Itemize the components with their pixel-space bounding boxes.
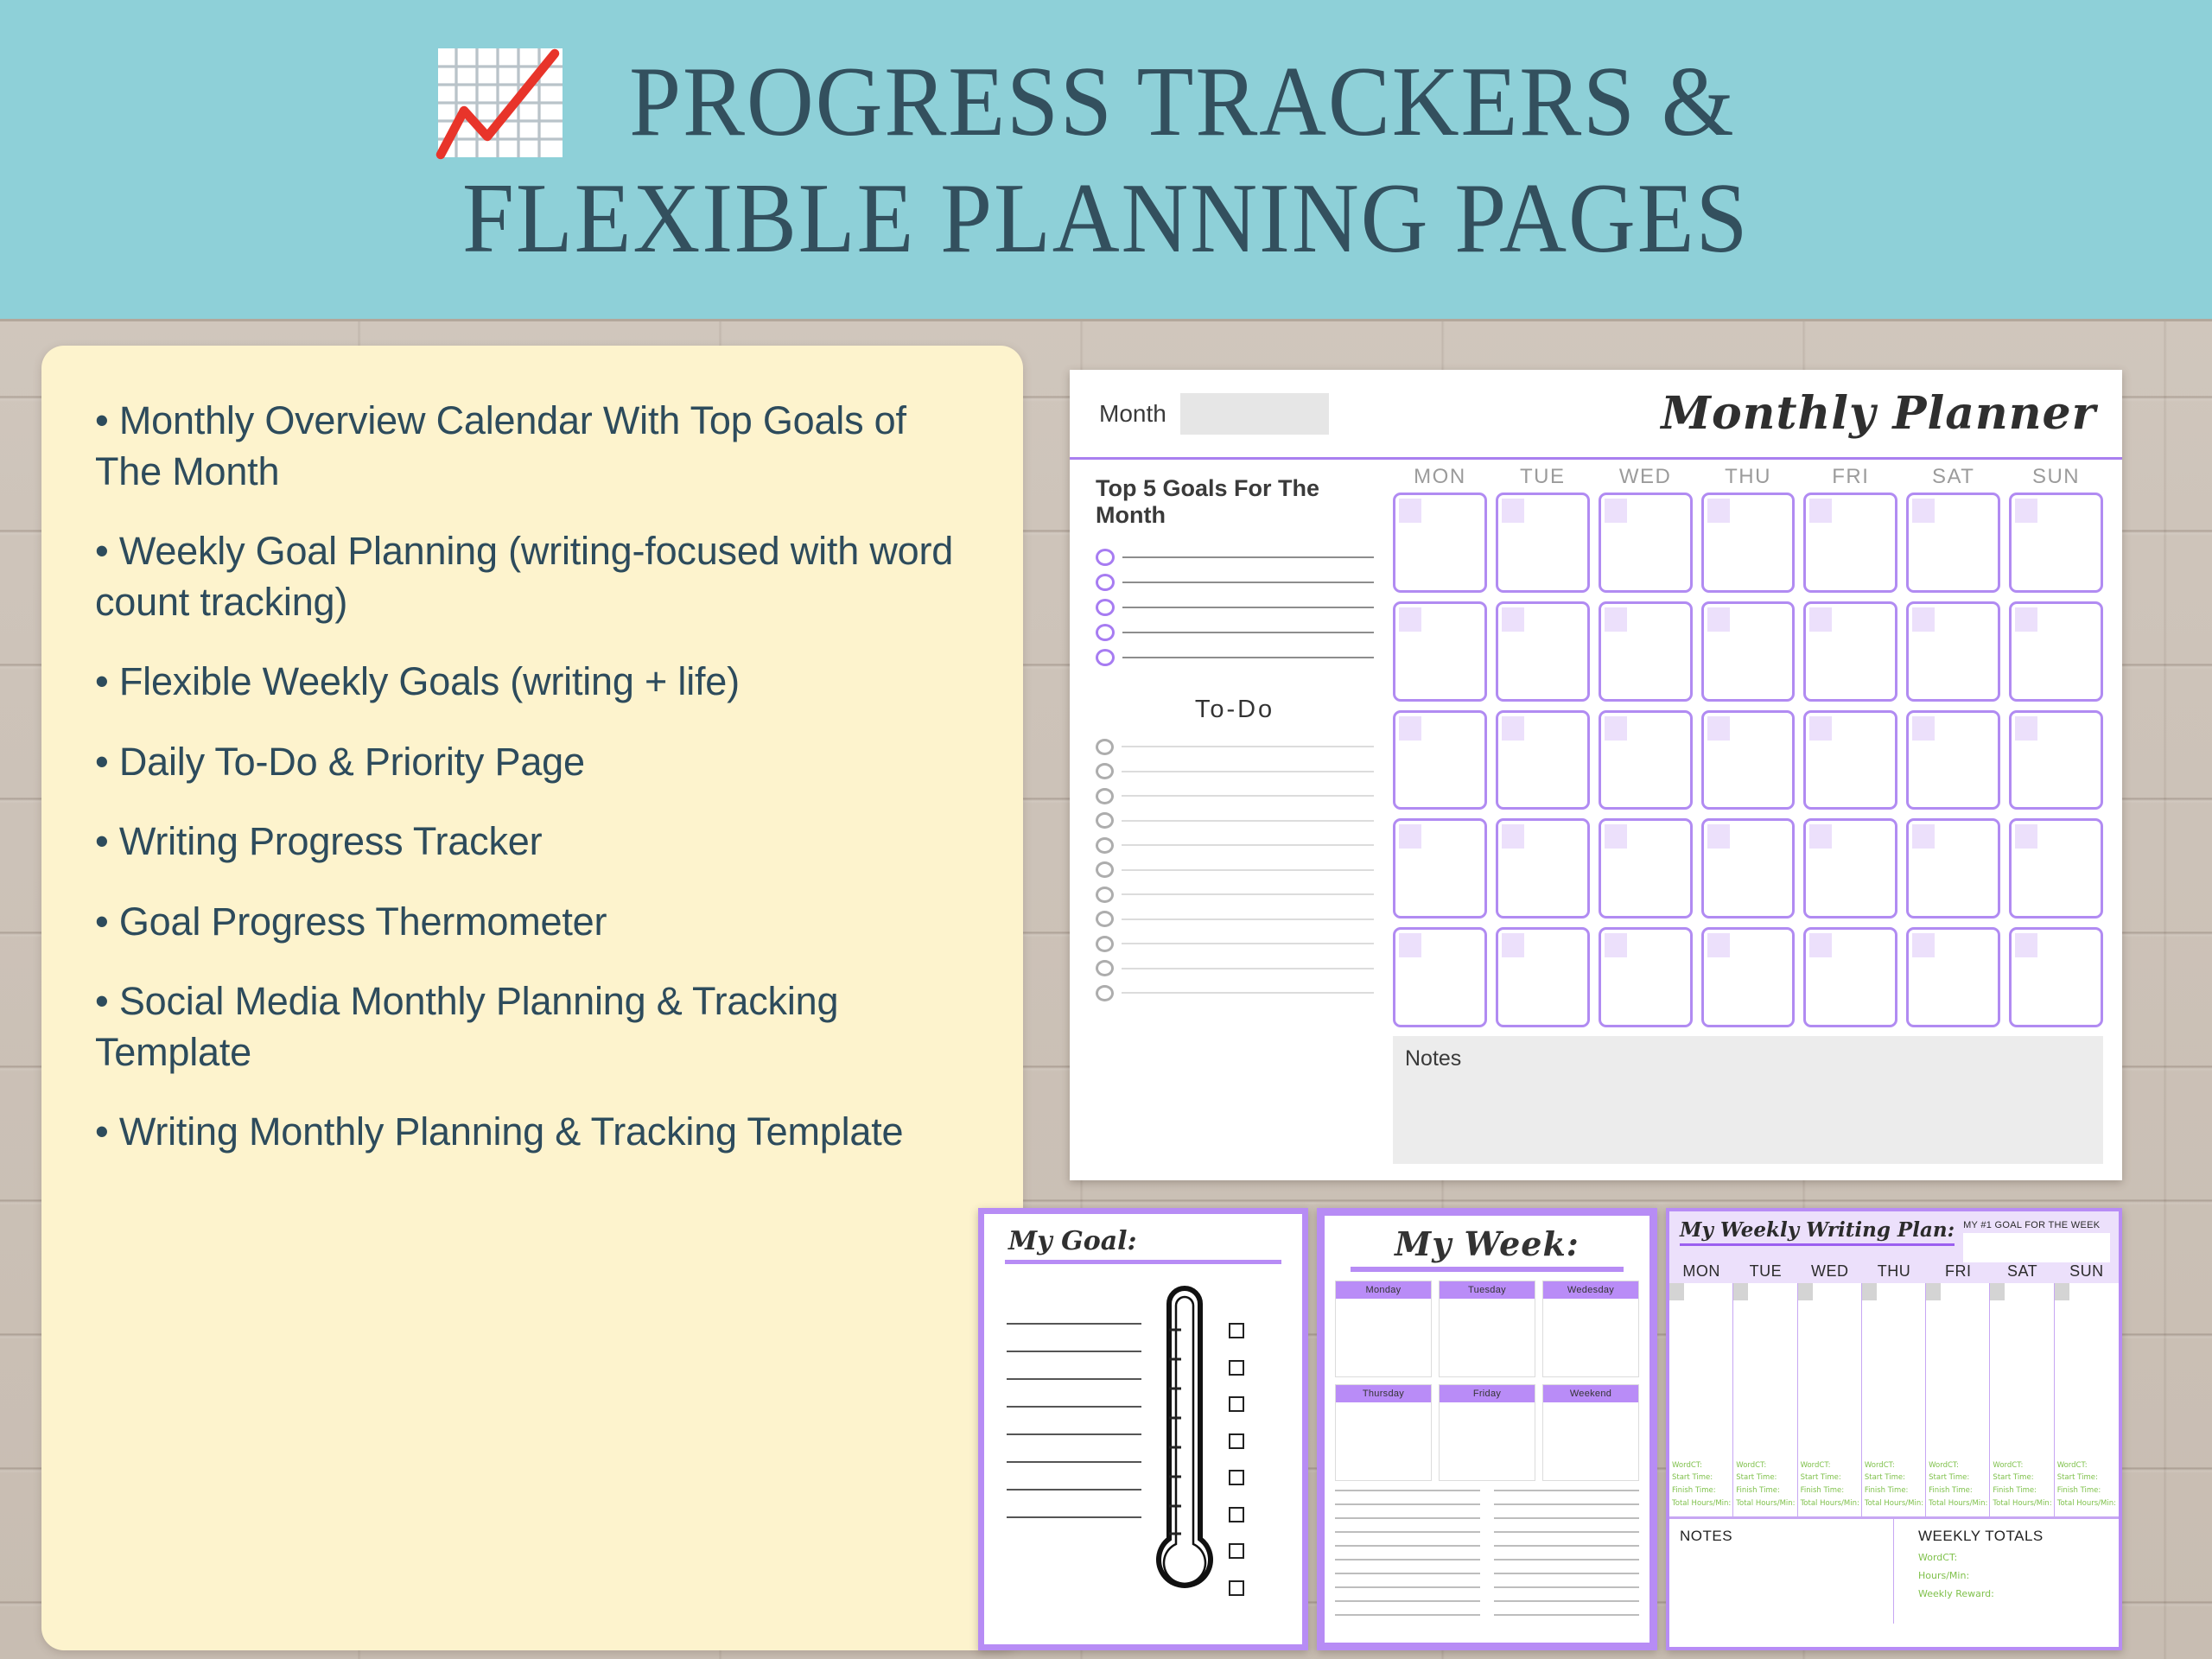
week-day-body[interactable] [1543, 1402, 1638, 1480]
writing-plan-field[interactable]: WordCT: [1672, 1459, 1731, 1472]
calendar-day-cell[interactable] [1701, 818, 1796, 918]
goal-checkbox-column [1229, 1323, 1244, 1617]
writing-plan-field[interactable]: Finish Time: [1672, 1484, 1731, 1497]
week-note-line[interactable] [1494, 1573, 1639, 1574]
calendar-day-cell[interactable] [2009, 601, 2103, 702]
week-goal-input[interactable] [1963, 1233, 2110, 1262]
my-week-preview: My Week: MondayTuesdayWedesdayThursdayFr… [1317, 1208, 1657, 1650]
goal-bullet-icon[interactable] [1096, 649, 1115, 666]
goal-checkbox[interactable] [1229, 1507, 1244, 1522]
goal-bullet-icon[interactable] [1096, 624, 1115, 641]
week-day-grid: MondayTuesdayWedesdayThursdayFridayWeeke… [1335, 1281, 1639, 1481]
calendar-day-cell[interactable] [1393, 601, 1487, 702]
calendar-day-cell[interactable] [2009, 493, 2103, 593]
writing-plan-field-group: WordCT:Start Time:Finish Time:Total Hour… [1672, 1459, 1731, 1511]
writing-plan-field[interactable]: Total Hours/Min: [1993, 1497, 2051, 1510]
calendar-day-cell[interactable] [1496, 493, 1590, 593]
weekly-totals-title: WEEKLY TOTALS [1918, 1528, 2119, 1545]
week-day-body[interactable] [1336, 1402, 1431, 1480]
calendar-day-cell[interactable] [1803, 927, 1897, 1027]
todo-row[interactable] [1096, 882, 1374, 907]
calendar-day-cell[interactable] [2009, 710, 2103, 810]
writing-plan-day-header: WED [1798, 1262, 1862, 1281]
writing-plan-field[interactable]: Total Hours/Min: [1801, 1497, 1859, 1510]
week-day-label: Wedesday [1543, 1281, 1638, 1299]
todo-bullet-icon[interactable] [1096, 985, 1114, 1001]
goal-line[interactable] [1007, 1516, 1141, 1518]
header-title-line2: FLEXIBLE PLANNING PAGES [462, 165, 1749, 273]
todo-write-line[interactable] [1122, 992, 1374, 994]
monthly-planner-header: Month Monthly Planner [1070, 370, 2122, 460]
goal-row[interactable] [1096, 544, 1374, 569]
calendar-day-header: THU [1701, 465, 1796, 489]
todo-bullet-icon[interactable] [1096, 812, 1114, 829]
todo-write-line[interactable] [1122, 771, 1374, 772]
writing-plan-day-column[interactable]: WordCT:Start Time:Finish Time:Total Hour… [1733, 1283, 1797, 1516]
todo-row[interactable] [1096, 858, 1374, 883]
week-notes-area [1335, 1490, 1639, 1628]
week-day-cell[interactable]: Monday [1335, 1281, 1432, 1377]
calendar-day-cell[interactable] [1803, 493, 1897, 593]
writing-plan-field[interactable]: Total Hours/Min: [1672, 1497, 1731, 1510]
goal-line[interactable] [1007, 1378, 1141, 1380]
week-day-label: Thursday [1336, 1385, 1431, 1402]
todo-bullet-icon[interactable] [1096, 837, 1114, 854]
week-note-line[interactable] [1335, 1517, 1480, 1519]
goal-title-rule [1005, 1260, 1281, 1264]
writing-plan-field[interactable]: Finish Time: [1993, 1484, 2051, 1497]
calendar-day-cell[interactable] [1803, 818, 1897, 918]
writing-plan-field[interactable]: WordCT: [1993, 1459, 2051, 1472]
calendar-day-cell[interactable] [1496, 601, 1590, 702]
week-note-line[interactable] [1335, 1531, 1480, 1533]
writing-plan-field[interactable]: Start Time: [1865, 1471, 1923, 1484]
calendar-day-cell[interactable] [1906, 927, 2000, 1027]
calendar-day-cell[interactable] [1906, 493, 2000, 593]
writing-plan-field[interactable]: Total Hours/Min: [2057, 1497, 2116, 1510]
writing-plan-day-column[interactable]: WordCT:Start Time:Finish Time:Total Hour… [1926, 1283, 1990, 1516]
todo-row[interactable] [1096, 760, 1374, 785]
goal-bullet-icon[interactable] [1096, 549, 1115, 566]
todo-write-line[interactable] [1122, 918, 1374, 920]
calendar-day-cell[interactable] [1393, 710, 1487, 810]
week-day-cell[interactable]: Wedesday [1542, 1281, 1639, 1377]
week-note-line[interactable] [1494, 1559, 1639, 1560]
week-day-label: Friday [1440, 1385, 1535, 1402]
monthly-planner-body: Top 5 Goals For The Month To-Do MONTUEWE… [1070, 460, 2122, 1178]
writing-plan-field-group: WordCT:Start Time:Finish Time:Total Hour… [1801, 1459, 1859, 1511]
goal-checkbox[interactable] [1229, 1396, 1244, 1412]
todo-row[interactable] [1096, 981, 1374, 1006]
weekly-totals-fields: WordCT:Hours/Min:Weekly Reward: [1918, 1552, 2119, 1599]
weekly-total-field[interactable]: Hours/Min: [1918, 1570, 2119, 1581]
goal-line[interactable] [1007, 1351, 1141, 1352]
feature-item: • Writing Progress Tracker [95, 817, 969, 868]
week-note-line[interactable] [1335, 1614, 1480, 1616]
week-note-line[interactable] [1494, 1614, 1639, 1616]
calendar-day-header: SUN [2009, 465, 2103, 489]
goal-line[interactable] [1007, 1406, 1141, 1408]
todo-write-line[interactable] [1122, 893, 1374, 895]
week-sheet-title: My Week: [1335, 1224, 1639, 1263]
todo-bullet-icon[interactable] [1096, 887, 1114, 903]
goal-checkbox[interactable] [1229, 1360, 1244, 1376]
goals-list [1096, 544, 1374, 670]
week-note-line[interactable] [1494, 1517, 1639, 1519]
writing-plan-day-header: FRI [1926, 1262, 1990, 1281]
week-goal-label: MY #1 GOAL FOR THE WEEK [1963, 1220, 2110, 1230]
goals-title: Top 5 Goals For The Month [1096, 475, 1374, 529]
thermometer-icon [1145, 1280, 1224, 1625]
weekly-writing-plan-preview: My Weekly Writing Plan: MY #1 GOAL FOR T… [1666, 1208, 2122, 1650]
feature-item: • Goal Progress Thermometer [95, 897, 969, 948]
todo-row[interactable] [1096, 833, 1374, 858]
week-goal-group: MY #1 GOAL FOR THE WEEK [1963, 1218, 2110, 1262]
writing-plan-day-column[interactable]: WordCT:Start Time:Finish Time:Total Hour… [1990, 1283, 2054, 1516]
goals-and-todo-column: Top 5 Goals For The Month To-Do [1070, 460, 1389, 1178]
goal-checkbox[interactable] [1229, 1543, 1244, 1559]
writing-plan-field[interactable]: WordCT: [1865, 1459, 1923, 1472]
month-field-group: Month [1099, 393, 1329, 435]
todo-bullet-icon[interactable] [1096, 739, 1114, 755]
todo-row[interactable] [1096, 784, 1374, 809]
goal-line[interactable] [1007, 1433, 1141, 1435]
week-day-cell[interactable]: Weekend [1542, 1384, 1639, 1481]
week-title-rule [1351, 1267, 1624, 1272]
weekly-total-field[interactable]: Weekly Reward: [1918, 1588, 2119, 1599]
calendar-day-cell[interactable] [2009, 927, 2103, 1027]
writing-plan-day-column[interactable]: WordCT:Start Time:Finish Time:Total Hour… [1798, 1283, 1862, 1516]
todo-bullet-icon[interactable] [1096, 861, 1114, 878]
todo-write-line[interactable] [1122, 746, 1374, 747]
writing-plan-day-header: THU [1862, 1262, 1926, 1281]
week-note-line[interactable] [1335, 1503, 1480, 1505]
calendar-day-cell[interactable] [1599, 601, 1693, 702]
todo-bullet-icon[interactable] [1096, 911, 1114, 927]
calendar-day-header: FRI [1803, 465, 1897, 489]
week-day-body[interactable] [1440, 1402, 1535, 1480]
todo-write-line[interactable] [1122, 869, 1374, 871]
goal-write-lines[interactable] [1007, 1323, 1141, 1544]
calendar-day-cell[interactable] [1906, 710, 2000, 810]
calendar-day-cell[interactable] [1599, 818, 1693, 918]
week-day-body[interactable] [1336, 1299, 1431, 1376]
week-note-line[interactable] [1494, 1490, 1639, 1491]
writing-plan-field-group: WordCT:Start Time:Finish Time:Total Hour… [1993, 1459, 2051, 1511]
calendar-day-cell[interactable] [1393, 927, 1487, 1027]
goal-row[interactable] [1096, 569, 1374, 594]
calendar-day-cell[interactable] [1701, 710, 1796, 810]
calendar-day-cell[interactable] [1496, 710, 1590, 810]
writing-plan-day-header: SUN [2055, 1262, 2119, 1281]
writing-plan-day-headers: MONTUEWEDTHUFRISATSUN [1669, 1262, 2119, 1283]
writing-plan-field[interactable]: Start Time: [1736, 1471, 1795, 1484]
writing-plan-field-group: WordCT:Start Time:Finish Time:Total Hour… [1865, 1459, 1923, 1511]
calendar-grid [1393, 493, 2103, 1027]
goal-write-line[interactable] [1122, 607, 1374, 608]
writing-plan-title-rule [1680, 1243, 1955, 1246]
writing-plan-day-column[interactable]: WordCT:Start Time:Finish Time:Total Hour… [1669, 1283, 1733, 1516]
todo-bullet-icon[interactable] [1096, 960, 1114, 976]
writing-plan-notes[interactable]: NOTES [1669, 1519, 1894, 1624]
calendar-day-cell[interactable] [1701, 927, 1796, 1027]
week-day-label: Weekend [1543, 1385, 1638, 1402]
notes-label: Notes [1405, 1046, 2103, 1071]
writing-plan-field[interactable]: Total Hours/Min: [1865, 1497, 1923, 1510]
calendar-day-cell[interactable] [1496, 927, 1590, 1027]
writing-plan-field[interactable]: Start Time: [2057, 1471, 2116, 1484]
week-note-line[interactable] [1494, 1503, 1639, 1505]
writing-plan-day-header: MON [1669, 1262, 1733, 1281]
calendar-day-header: MON [1393, 465, 1487, 489]
writing-plan-field[interactable]: WordCT: [1736, 1459, 1795, 1472]
writing-plan-title-wrap: My Weekly Writing Plan: [1680, 1218, 1955, 1246]
calendar-day-header: TUE [1496, 465, 1590, 489]
writing-plan-day-column[interactable]: WordCT:Start Time:Finish Time:Total Hour… [2055, 1283, 2119, 1516]
feature-item: • Daily To-Do & Priority Page [95, 737, 969, 788]
writing-plan-field[interactable]: Start Time: [1672, 1471, 1731, 1484]
writing-plan-field[interactable]: WordCT: [1801, 1459, 1859, 1472]
week-notes-column-right[interactable] [1494, 1490, 1639, 1628]
week-day-label: Tuesday [1440, 1281, 1535, 1299]
week-day-body[interactable] [1543, 1299, 1638, 1376]
writing-plan-notes-title: NOTES [1680, 1528, 1893, 1545]
goal-checkbox[interactable] [1229, 1323, 1244, 1338]
week-day-cell[interactable]: Friday [1439, 1384, 1535, 1481]
header-banner: PROGRESS TRACKERS & FLEXIBLE PLANNING PA… [0, 0, 2212, 321]
feature-item: • Flexible Weekly Goals (writing + life) [95, 657, 969, 708]
goal-sheet-body [1000, 1269, 1287, 1641]
week-notes-column-left[interactable] [1335, 1490, 1480, 1628]
goal-bullet-icon[interactable] [1096, 599, 1115, 616]
writing-plan-day-header: TUE [1733, 1262, 1797, 1281]
writing-plan-day-column[interactable]: WordCT:Start Time:Finish Time:Total Hour… [1862, 1283, 1926, 1516]
todo-bullet-icon[interactable] [1096, 763, 1114, 779]
week-day-body[interactable] [1440, 1299, 1535, 1376]
todo-write-line[interactable] [1122, 844, 1374, 846]
feature-item: • Writing Monthly Planning & Tracking Te… [95, 1107, 969, 1158]
writing-plan-header: My Weekly Writing Plan: MY #1 GOAL FOR T… [1669, 1211, 2119, 1262]
todo-row[interactable] [1096, 907, 1374, 932]
goal-row[interactable] [1096, 594, 1374, 620]
week-note-line[interactable] [1494, 1586, 1639, 1588]
writing-plan-field[interactable]: WordCT: [2057, 1459, 2116, 1472]
goal-row[interactable] [1096, 645, 1374, 670]
todo-write-line[interactable] [1122, 943, 1374, 944]
todo-list [1096, 734, 1374, 1006]
week-note-line[interactable] [1335, 1559, 1480, 1560]
calendar-day-cell[interactable] [1803, 601, 1897, 702]
week-day-label: Monday [1336, 1281, 1431, 1299]
calendar-day-cell[interactable] [1803, 710, 1897, 810]
calendar-day-cell[interactable] [1496, 818, 1590, 918]
writing-plan-field-group: WordCT:Start Time:Finish Time:Total Hour… [2057, 1459, 2116, 1511]
calendar-day-cell[interactable] [1906, 818, 2000, 918]
week-note-line[interactable] [1335, 1600, 1480, 1602]
writing-plan-field[interactable]: WordCT: [1929, 1459, 1987, 1472]
monthly-planner-title: Monthly Planner [1661, 387, 2096, 440]
week-note-line[interactable] [1335, 1586, 1480, 1588]
calendar-day-header: SAT [1906, 465, 2000, 489]
todo-write-line[interactable] [1122, 795, 1374, 797]
goal-sheet-title: My Goal: [1008, 1226, 1287, 1256]
writing-plan-day-columns: WordCT:Start Time:Finish Time:Total Hour… [1669, 1283, 2119, 1516]
week-day-cell[interactable]: Tuesday [1439, 1281, 1535, 1377]
todo-bullet-icon[interactable] [1096, 936, 1114, 952]
writing-plan-field[interactable]: Start Time: [1801, 1471, 1859, 1484]
todo-bullet-icon[interactable] [1096, 788, 1114, 804]
calendar-column: MONTUEWEDTHUFRISATSUN Notes [1389, 460, 2122, 1178]
month-label: Month [1099, 400, 1166, 428]
week-day-cell[interactable]: Thursday [1335, 1384, 1432, 1481]
header-title-line1: PROGRESS TRACKERS & [629, 48, 1735, 156]
goal-line[interactable] [1007, 1323, 1141, 1325]
goal-line[interactable] [1007, 1489, 1141, 1491]
features-panel: • Monthly Overview Calendar With Top Goa… [41, 346, 1023, 1650]
goal-line[interactable] [1007, 1461, 1141, 1463]
writing-plan-field[interactable]: Finish Time: [1736, 1484, 1795, 1497]
header-title-row: PROGRESS TRACKERS & [435, 46, 1777, 160]
writing-plan-field[interactable]: Start Time: [1993, 1471, 2051, 1484]
goal-checkbox[interactable] [1229, 1470, 1244, 1485]
goal-write-line[interactable] [1122, 556, 1374, 558]
writing-plan-field[interactable]: Start Time: [1929, 1471, 1987, 1484]
writing-plan-footer: NOTES WEEKLY TOTALS WordCT:Hours/Min:Wee… [1669, 1516, 2119, 1624]
weekly-totals: WEEKLY TOTALS WordCT:Hours/Min:Weekly Re… [1894, 1519, 2119, 1624]
goal-write-line[interactable] [1122, 582, 1374, 583]
todo-row[interactable] [1096, 957, 1374, 982]
monthly-planner-preview: Month Monthly Planner Top 5 Goals For Th… [1070, 370, 2122, 1180]
week-note-line[interactable] [1335, 1573, 1480, 1574]
calendar-day-cell[interactable] [1393, 818, 1487, 918]
feature-item: • Weekly Goal Planning (writing-focused … [95, 526, 969, 627]
chart-increasing-icon [435, 46, 565, 160]
writing-plan-field[interactable]: Total Hours/Min: [1736, 1497, 1795, 1510]
calendar-day-cell[interactable] [1599, 710, 1693, 810]
week-note-line[interactable] [1494, 1600, 1639, 1602]
writing-plan-field[interactable]: Finish Time: [1929, 1484, 1987, 1497]
todo-row[interactable] [1096, 931, 1374, 957]
week-note-line[interactable] [1494, 1545, 1639, 1547]
calendar-day-header: WED [1599, 465, 1693, 489]
writing-plan-field[interactable]: Finish Time: [1801, 1484, 1859, 1497]
todo-row[interactable] [1096, 809, 1374, 834]
writing-plan-field-group: WordCT:Start Time:Finish Time:Total Hour… [1736, 1459, 1795, 1511]
writing-plan-day-header: SAT [1990, 1262, 2054, 1281]
goal-write-line[interactable] [1122, 632, 1374, 633]
writing-plan-field-group: WordCT:Start Time:Finish Time:Total Hour… [1929, 1459, 1987, 1511]
writing-plan-field[interactable]: Finish Time: [1865, 1484, 1923, 1497]
weekly-total-field[interactable]: WordCT: [1918, 1552, 2119, 1563]
goal-checkbox[interactable] [1229, 1433, 1244, 1449]
calendar-day-cell[interactable] [1701, 493, 1796, 593]
goal-bullet-icon[interactable] [1096, 574, 1115, 591]
calendar-day-cell[interactable] [1393, 493, 1487, 593]
calendar-day-cell[interactable] [2009, 818, 2103, 918]
week-note-line[interactable] [1335, 1545, 1480, 1547]
calendar-day-cell[interactable] [1701, 601, 1796, 702]
goal-write-line[interactable] [1122, 657, 1374, 658]
notes-box[interactable]: Notes [1393, 1036, 2103, 1164]
todo-write-line[interactable] [1122, 820, 1374, 822]
todo-row[interactable] [1096, 734, 1374, 760]
calendar-day-cell[interactable] [1599, 493, 1693, 593]
writing-plan-field[interactable]: Total Hours/Min: [1929, 1497, 1987, 1510]
writing-plan-title: My Weekly Writing Plan: [1680, 1218, 1955, 1242]
calendar-day-cell[interactable] [1599, 927, 1693, 1027]
goal-thermometer-preview: My Goal: [978, 1208, 1308, 1650]
goal-checkbox[interactable] [1229, 1580, 1244, 1596]
week-note-line[interactable] [1335, 1490, 1480, 1491]
todo-title: To-Do [1096, 696, 1374, 724]
calendar-day-headers: MONTUEWEDTHUFRISATSUN [1393, 465, 2103, 489]
goal-row[interactable] [1096, 620, 1374, 645]
month-input[interactable] [1180, 393, 1329, 435]
feature-item: • Monthly Overview Calendar With Top Goa… [95, 396, 969, 497]
writing-plan-field[interactable]: Finish Time: [2057, 1484, 2116, 1497]
feature-item: • Social Media Monthly Planning & Tracki… [95, 976, 969, 1077]
calendar-day-cell[interactable] [1906, 601, 2000, 702]
todo-write-line[interactable] [1122, 968, 1374, 969]
week-note-line[interactable] [1494, 1531, 1639, 1533]
